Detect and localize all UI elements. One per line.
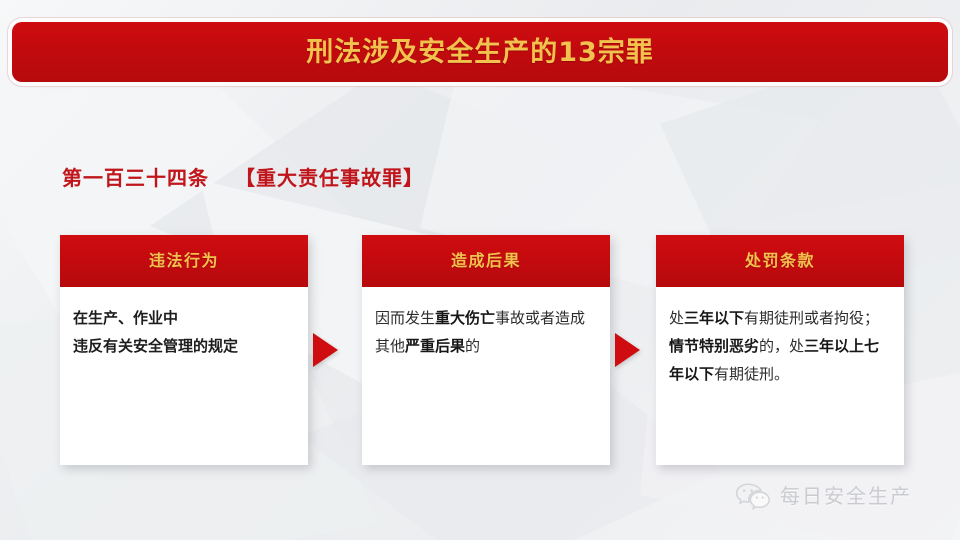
- article-subtitle: 第一百三十四条 【重大责任事故罪】: [62, 162, 424, 191]
- card-body-segment-bold: 三年以下: [684, 309, 744, 327]
- card-header-label: 违法行为: [149, 253, 219, 269]
- card-consequence: 造成后果 因而发生重大伤亡事故或者造成其他严重后果的: [362, 235, 610, 465]
- card-body-segment-bold: 情节特别恶劣: [669, 337, 759, 355]
- card-body-segment: 有期徒刑。: [714, 365, 789, 383]
- arrow-card1-to-card2: [313, 333, 338, 367]
- card-header: 造成后果: [362, 235, 610, 287]
- watermark-label: 每日安全生产: [780, 486, 912, 506]
- page-title: 刑法涉及安全生产的13宗罪: [306, 39, 654, 66]
- card-header-label: 造成后果: [451, 253, 521, 269]
- card-body-line: 在生产、作业中: [73, 305, 294, 333]
- card-body-line: 违反有关安全管理的规定: [73, 333, 294, 361]
- card-header-label: 处罚条款: [745, 253, 815, 269]
- card-body: 在生产、作业中 违反有关安全管理的规定: [60, 287, 308, 371]
- article-number: 第一百三十四条: [62, 162, 209, 191]
- card-header: 处罚条款: [656, 235, 904, 287]
- crime-name: 【重大责任事故罪】: [235, 162, 424, 191]
- slide-canvas: 刑法涉及安全生产的13宗罪 第一百三十四条 【重大责任事故罪】 违法行为 在生产…: [0, 0, 960, 540]
- watermark: 每日安全生产: [735, 482, 912, 510]
- card-body: 因而发生重大伤亡事故或者造成其他严重后果的: [362, 287, 610, 371]
- card-body-segment-bold: 重大伤亡: [435, 309, 495, 327]
- card-body-segment: 处: [669, 309, 684, 327]
- card-body-segment-bold: 严重后果: [405, 337, 465, 355]
- card-body-segment: 的，处: [759, 337, 804, 355]
- card-header: 违法行为: [60, 235, 308, 287]
- card-illegal-act: 违法行为 在生产、作业中 违反有关安全管理的规定: [60, 235, 308, 465]
- card-body-segment: 因而发生: [375, 309, 435, 327]
- card-penalty: 处罚条款 处三年以下有期徒刑或者拘役；情节特别恶劣的，处三年以上七年以下有期徒刑…: [656, 235, 904, 465]
- title-banner: 刑法涉及安全生产的13宗罪: [12, 22, 948, 82]
- card-body-segment: 的: [465, 337, 480, 355]
- card-body-segment: 有期徒刑或者拘役；: [744, 309, 879, 327]
- card-body: 处三年以下有期徒刑或者拘役；情节特别恶劣的，处三年以上七年以下有期徒刑。: [656, 287, 904, 398]
- arrow-card2-to-card3: [615, 333, 640, 367]
- wechat-icon: [735, 482, 771, 510]
